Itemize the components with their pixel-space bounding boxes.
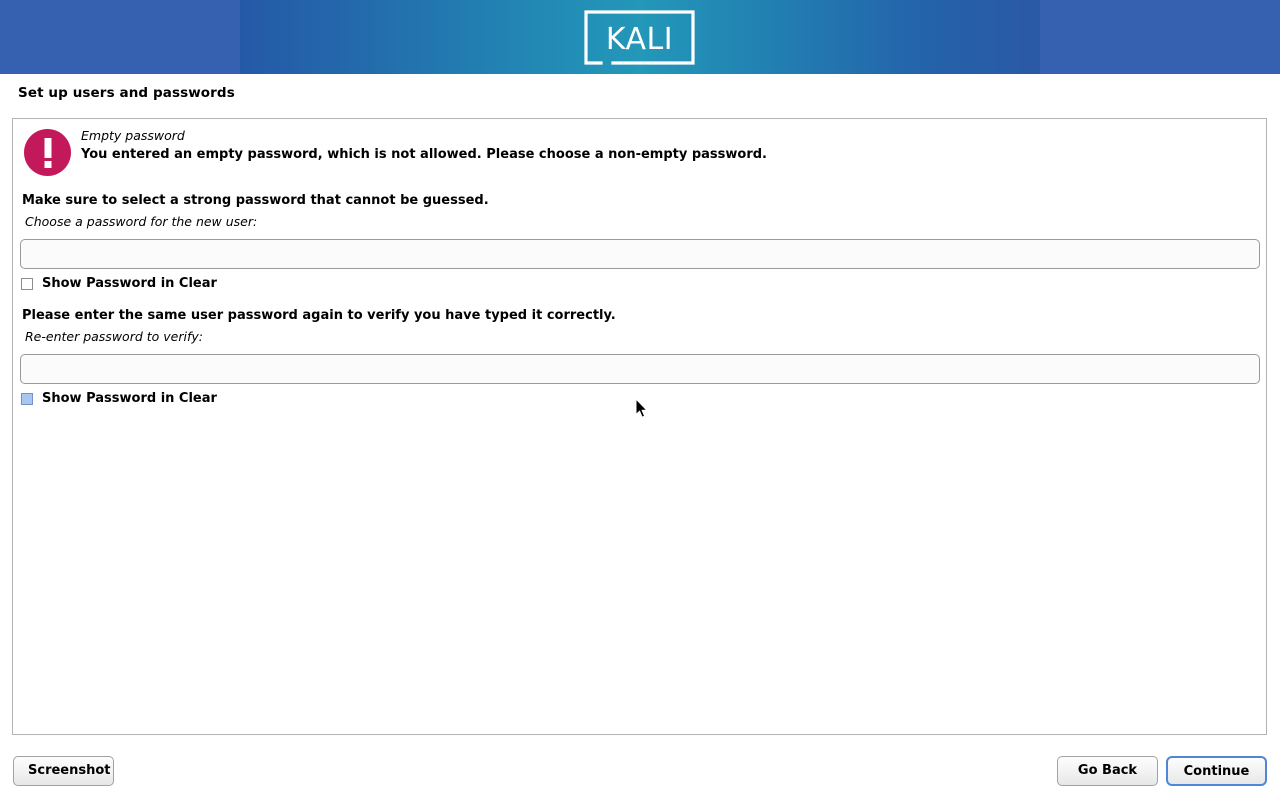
banner-left-fill <box>0 0 240 74</box>
verify-password-note: Please enter the same user password agai… <box>22 308 616 323</box>
go-back-button[interactable]: Go Back <box>1057 756 1158 786</box>
password-input-wrap <box>20 239 1260 269</box>
verify-field-label: Re-enter password to verify: <box>25 329 203 344</box>
kali-logo: KALI <box>583 9 696 66</box>
show-password-checkbox-2-row[interactable]: Show Password in Clear <box>21 391 217 406</box>
header-banner: KALI <box>0 0 1280 74</box>
error-title: Empty password <box>81 128 185 143</box>
show-password-checkbox-1[interactable] <box>21 278 33 290</box>
error-exclamation-icon <box>24 129 71 176</box>
show-password-checkbox-1-row[interactable]: Show Password in Clear <box>21 276 217 291</box>
installer-window: KALI Set up users and passwords Empty pa… <box>0 0 1280 800</box>
error-description: You entered an empty password, which is … <box>81 147 767 162</box>
banner-right-fill <box>1040 0 1280 74</box>
strong-password-note: Make sure to select a strong password th… <box>22 193 489 208</box>
screenshot-button[interactable]: Screenshot <box>13 756 114 786</box>
show-password-checkbox-2[interactable] <box>21 393 33 405</box>
password-field-label: Choose a password for the new user: <box>25 214 257 229</box>
svg-text:KALI: KALI <box>606 22 673 57</box>
show-password-label-2: Show Password in Clear <box>42 391 217 406</box>
show-password-label-1: Show Password in Clear <box>42 276 217 291</box>
verify-input-wrap <box>20 354 1260 384</box>
continue-button[interactable]: Continue <box>1166 756 1267 786</box>
page-title: Set up users and passwords <box>18 85 235 101</box>
verify-password-input[interactable] <box>20 354 1260 384</box>
password-input[interactable] <box>20 239 1260 269</box>
main-content-panel: Empty password You entered an empty pass… <box>12 118 1267 735</box>
